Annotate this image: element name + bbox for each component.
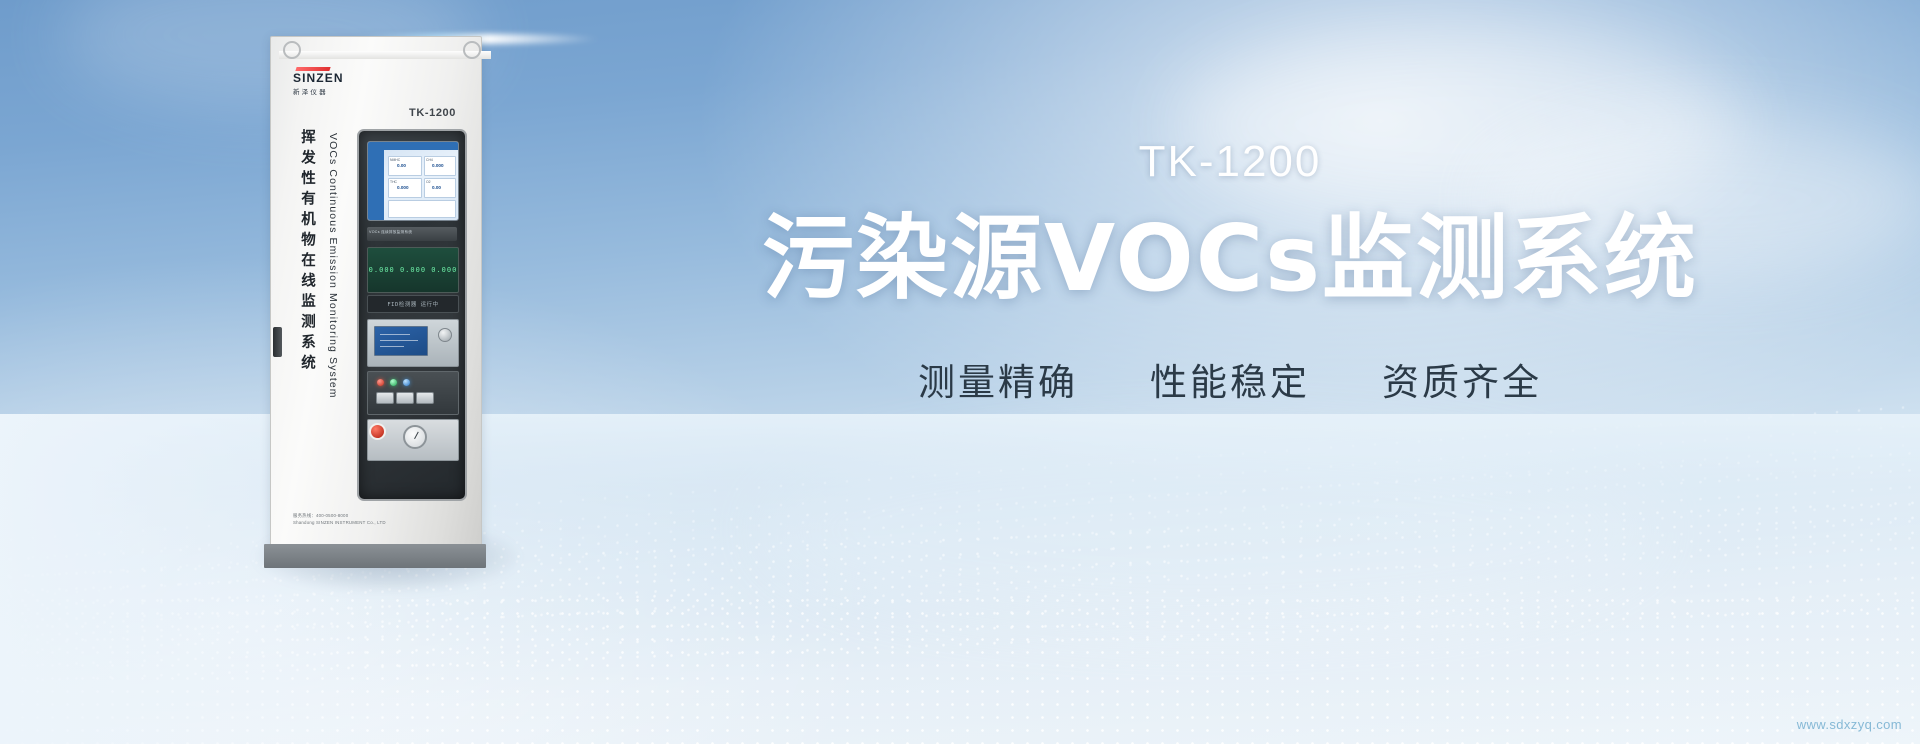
cabinet-top [279,51,491,59]
cabinet-vertical-english-text: VOCs Continuous Emission Monitoring Syst… [327,133,339,399]
hmi-touchscreen: 0.00 0.000 0.000 0.00 NMHC CH4 THC O2 [367,141,459,221]
pressure-gauge-icon [403,425,427,449]
cabinet-model-label: TK-1200 [409,107,456,119]
cabinet-footer-text: 服务热线：400-0500-8000 Shandong SINZEN INSTR… [293,513,463,526]
brand-name: SINZEN [293,72,363,84]
secondary-lcd-value: FID检测器 运行中 [387,300,438,308]
site-watermark: www.sdxzyq.com [1797,717,1902,732]
status-led-green-icon [390,379,397,386]
green-lcd-display: 0.000 0.000 0.000 [367,247,459,293]
analyzer-module [367,319,459,367]
product-banner: SINZEN 新泽仪器 TK-1200 挥发性有机物在线监测系统 VOCs Co… [0,0,1920,744]
module-screen [374,326,428,356]
cabinet-door-handle [273,327,282,357]
status-led-blue-icon [403,379,410,386]
company-name-en: Shandong SINZEN INSTRUMENT Co., LTD [293,520,463,527]
cloud-decoration [760,430,1660,630]
eyebolt-icon [283,41,301,59]
product-image-analyzer-cabinet: SINZEN 新泽仪器 TK-1200 挥发性有机物在线监测系统 VOCs Co… [262,22,512,582]
power-led-red-icon [377,379,384,386]
emergency-stop-button [369,423,386,440]
product-model: TK-1200 [700,140,1760,184]
toggle-switch [376,392,394,404]
hmi-side-menu [368,150,384,220]
panel-strip-label: VOCs 连续排放监测系统 [369,230,455,235]
feature-item-2: 性能稳定 [1150,352,1310,406]
control-knob [438,328,452,342]
cabinet-base-plinth [264,544,486,568]
feature-item-1: 测量精确 [918,352,1078,406]
secondary-lcd-display: FID检测器 运行中 [367,295,459,313]
banner-headline: 污染源VOCs监测系统 [700,210,1760,308]
instrument-window: 0.00 0.000 0.000 0.00 NMHC CH4 THC O2 VO… [357,129,467,501]
feature-item-3: 资质齐全 [1382,352,1542,406]
logo-accent-bar [295,67,330,71]
brand-subtitle: 新泽仪器 [293,86,363,96]
hmi-title-bar [368,142,458,150]
banner-text-block: TK-1200 污染源VOCs监测系统 测量精确 性能稳定 资质齐全 [700,140,1760,406]
control-panel [367,371,459,415]
toggle-switch [396,392,414,404]
feature-list: 测量精确 性能稳定 资质齐全 [700,352,1760,406]
brand-logo: SINZEN 新泽仪器 [293,67,363,96]
cabinet-body: SINZEN 新泽仪器 TK-1200 挥发性有机物在线监测系统 VOCs Co… [270,36,482,546]
toggle-switch [416,392,434,404]
eyebolt-icon [463,41,481,59]
service-hotline: 服务热线：400-0500-8000 [293,513,463,520]
green-lcd-value: 0.000 0.000 0.000 [369,266,458,274]
cabinet-vertical-chinese-text: 挥发性有机物在线监测系统 [297,129,318,375]
